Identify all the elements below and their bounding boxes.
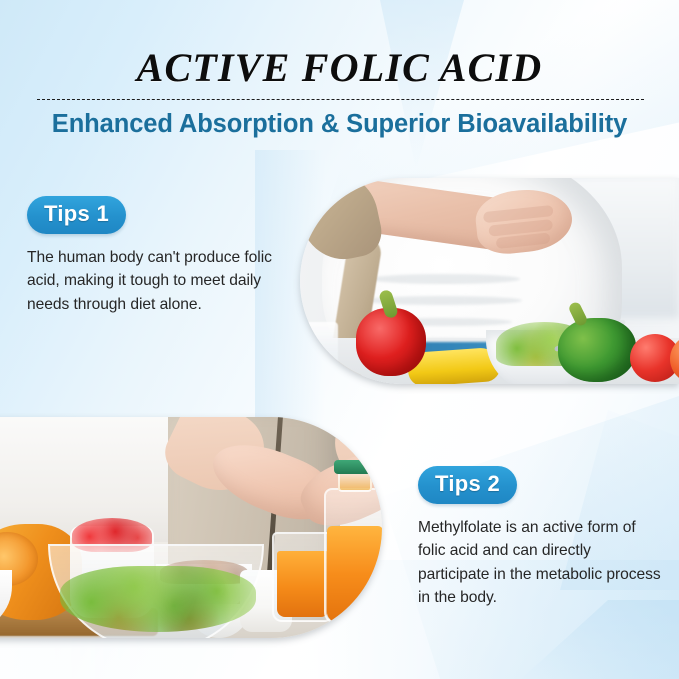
infographic-canvas: ACTIVE FOLIC ACID Enhanced Absorption & … [0,0,679,679]
green-bell-pepper [558,318,636,382]
tips-2-badge: Tips 2 [418,466,517,504]
page-subtitle: Enhanced Absorption & Superior Bioavaila… [0,110,679,139]
tip-1-photo-scene [300,178,679,384]
background-facet [520,600,679,679]
tip-1-photo [300,178,679,384]
juice-bottle-cap [334,460,376,474]
page-title: ACTIVE FOLIC ACID [0,44,679,91]
tip-2-photo [0,417,382,638]
tips-1-body-text: The human body can't produce folic acid,… [27,246,295,316]
fabric-fold [370,274,520,284]
title-divider [37,99,644,100]
glass [300,322,338,378]
red-bell-pepper [356,308,426,376]
juice-bottle-contents [327,526,382,622]
tip-2-photo-scene [0,417,382,638]
background-facet [330,0,679,200]
tips-2-body-text: Methylfolate is an active form of folic … [418,516,666,610]
salad-greens [60,566,256,632]
tips-1-badge: Tips 1 [27,196,126,234]
